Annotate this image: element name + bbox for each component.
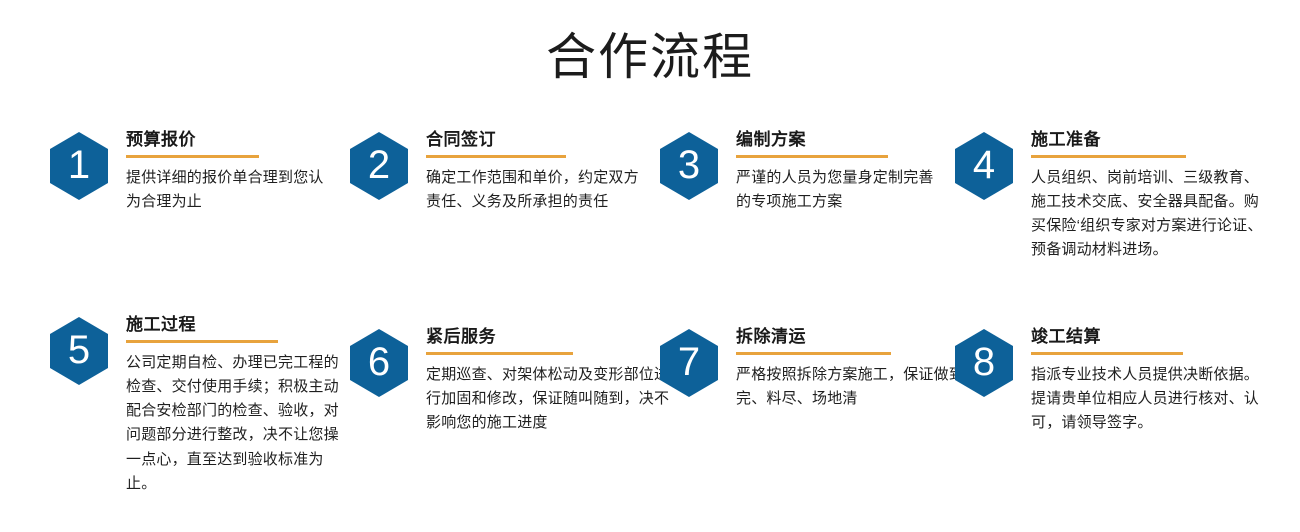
step-item-5[interactable]: 5 施工过程 公司定期自检、办理已完工程的检查、交付使用手续；积极主动配合安检部… — [0, 303, 305, 496]
step-title: 拆除清运 — [736, 327, 910, 347]
step-number: 8 — [973, 342, 995, 382]
hexagon-badge-7: 7 — [660, 329, 718, 397]
hexagon-icon: 5 — [50, 317, 108, 385]
step-number: 2 — [368, 145, 390, 185]
steps-row-second: 5 施工过程 公司定期自检、办理已完工程的检查、交付使用手续；积极主动配合安检部… — [0, 303, 1300, 496]
step-body: 施工过程 公司定期自检、办理已完工程的检查、交付使用手续；积极主动配合安检部门的… — [126, 313, 305, 496]
step-description: 确定工作范围和单价，约定双方责任、义务及所承担的责任 — [426, 166, 641, 215]
step-body: 编制方案 严谨的人员为您量身定制完善的专项施工方案 — [736, 128, 910, 214]
hexagon-badge-2: 2 — [350, 132, 408, 200]
step-body: 紧后服务 定期巡查、对架体松动及变形部位进行加固和修改，保证随叫随到，决不影响您… — [426, 325, 610, 435]
hexagon-icon: 2 — [350, 132, 408, 200]
step-body: 竣工结算 指派专业技术人员提供决断依据。提请贵单位相应人员进行核对、认可，请领导… — [1031, 325, 1300, 435]
hexagon-badge-4: 4 — [955, 132, 1013, 200]
cooperation-process-infographic: 合作流程 1 预算报价 提供详细的报价单合理到您认为合理为止 2 — [0, 0, 1300, 532]
hexagon-badge-5: 5 — [50, 317, 108, 385]
step-body: 施工准备 人员组织、岗前培训、三级教育、施工技术交底、安全器具配备。购买保险‘组… — [1031, 128, 1300, 263]
step-item-4[interactable]: 4 施工准备 人员组织、岗前培训、三级教育、施工技术交底、安全器具配备。购买保险… — [910, 128, 1300, 263]
hexagon-badge-6: 6 — [350, 329, 408, 397]
step-item-3[interactable]: 3 编制方案 严谨的人员为您量身定制完善的专项施工方案 — [610, 128, 910, 214]
step-title: 编制方案 — [736, 130, 910, 150]
step-underline-rule — [736, 155, 888, 158]
step-title: 竣工结算 — [1031, 327, 1300, 347]
step-title: 预算报价 — [126, 130, 305, 150]
step-number: 4 — [973, 145, 995, 185]
step-title: 施工过程 — [126, 315, 305, 335]
step-body: 合同签订 确定工作范围和单价，约定双方责任、义务及所承担的责任 — [426, 128, 610, 214]
step-item-2[interactable]: 2 合同签订 确定工作范围和单价，约定双方责任、义务及所承担的责任 — [305, 128, 610, 214]
step-number: 3 — [678, 145, 700, 185]
step-description: 人员组织、岗前培训、三级教育、施工技术交底、安全器具配备。购买保险‘组织专家对方… — [1031, 166, 1267, 263]
hexagon-icon: 6 — [350, 329, 408, 397]
hexagon-icon: 4 — [955, 132, 1013, 200]
step-underline-rule — [736, 352, 891, 355]
steps-grid: 1 预算报价 提供详细的报价单合理到您认为合理为止 2 合同签订 — [0, 128, 1300, 496]
step-number: 1 — [68, 145, 90, 185]
step-title: 合同签订 — [426, 130, 610, 150]
step-underline-rule — [126, 340, 278, 343]
step-item-8[interactable]: 8 竣工结算 指派专业技术人员提供决断依据。提请贵单位相应人员进行核对、认可，请… — [910, 303, 1300, 435]
hexagon-badge-8: 8 — [955, 329, 1013, 397]
step-number: 6 — [368, 342, 390, 382]
hexagon-icon: 3 — [660, 132, 718, 200]
step-underline-rule — [126, 155, 259, 158]
step-underline-rule — [426, 155, 566, 158]
hexagon-badge-3: 3 — [660, 132, 718, 200]
step-number: 7 — [678, 342, 700, 382]
page-title: 合作流程 — [0, 0, 1300, 92]
step-underline-rule — [426, 352, 573, 355]
steps-row-first: 1 预算报价 提供详细的报价单合理到您认为合理为止 2 合同签订 — [0, 128, 1300, 303]
step-item-7[interactable]: 7 拆除清运 严格按照拆除方案施工，保证做到工完、料尽、场地清 — [610, 303, 910, 411]
hexagon-icon: 8 — [955, 329, 1013, 397]
step-description: 指派专业技术人员提供决断依据。提请贵单位相应人员进行核对、认可，请领导签字。 — [1031, 363, 1267, 436]
step-body: 预算报价 提供详细的报价单合理到您认为合理为止 — [126, 128, 305, 214]
step-title: 施工准备 — [1031, 130, 1300, 150]
step-underline-rule — [1031, 352, 1183, 355]
step-underline-rule — [1031, 155, 1186, 158]
hexagon-icon: 1 — [50, 132, 108, 200]
step-item-6[interactable]: 6 紧后服务 定期巡查、对架体松动及变形部位进行加固和修改，保证随叫随到，决不影… — [305, 303, 610, 435]
step-number: 5 — [68, 330, 90, 370]
hexagon-icon: 7 — [660, 329, 718, 397]
hexagon-badge-1: 1 — [50, 132, 108, 200]
step-item-1[interactable]: 1 预算报价 提供详细的报价单合理到您认为合理为止 — [0, 128, 305, 214]
step-description: 提供详细的报价单合理到您认为合理为止 — [126, 166, 326, 215]
step-title: 紧后服务 — [426, 327, 610, 347]
step-body: 拆除清运 严格按照拆除方案施工，保证做到工完、料尽、场地清 — [736, 325, 910, 411]
